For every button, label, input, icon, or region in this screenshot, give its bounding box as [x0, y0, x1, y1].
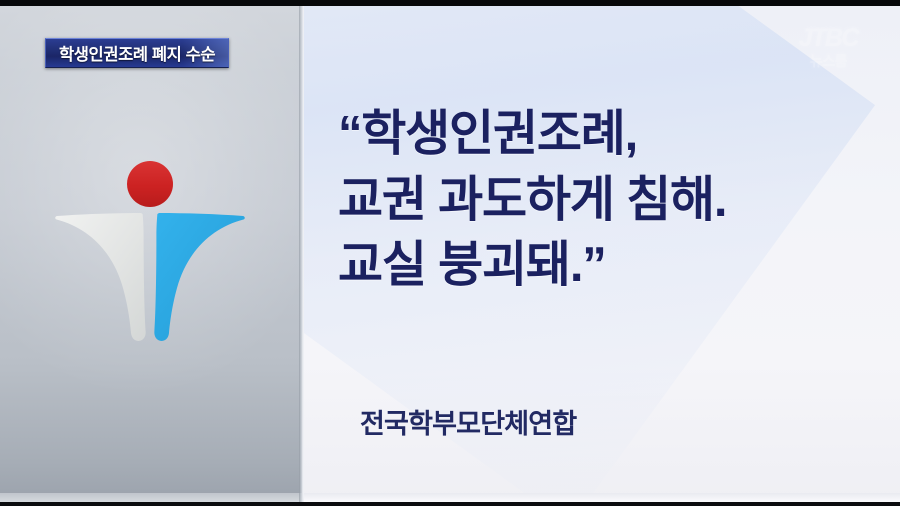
left-panel-footer-strip [0, 493, 302, 502]
quote-line-3: 교실 붕괴돼.” [338, 233, 726, 299]
right-panel-footer-strip [302, 493, 900, 502]
organization-logo [45, 156, 265, 356]
quote-block: “학생인권조례, 교권 과도하게 침해. 교실 붕괴돼.” [338, 102, 726, 299]
letterbox-bar-bottom [0, 502, 900, 506]
video-frame: “학생인권조례, 교권 과도하게 침해. 교실 붕괴돼.” 전국학부모단체연합 … [0, 6, 900, 502]
logo-right-wing [154, 213, 244, 341]
headline-banner-text: 학생인권조례 폐지 수순 [59, 41, 215, 65]
quote-attribution: 전국학부모단체연합 [360, 402, 576, 441]
logo-left-wing [55, 213, 145, 341]
letterbox-bar-top [0, 0, 900, 6]
right-panel: “학생인권조례, 교권 과도하게 침해. 교실 붕괴돼.” 전국학부모단체연합 [302, 6, 900, 502]
logo-head-circle [127, 161, 173, 207]
panel-divider [299, 6, 304, 502]
broadcast-screenshot: “학생인권조례, 교권 과도하게 침해. 교실 붕괴돼.” 전국학부모단체연합 … [0, 0, 900, 506]
headline-banner: 학생인권조례 폐지 수순 [45, 38, 229, 68]
quote-line-2: 교권 과도하게 침해. [338, 168, 726, 234]
quote-line-1: “학생인권조례, [338, 102, 726, 168]
